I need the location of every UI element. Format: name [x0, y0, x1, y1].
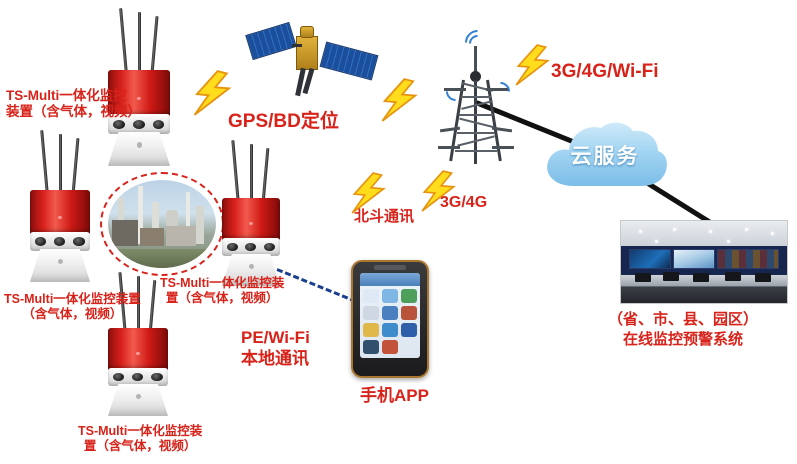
- app-icon[interactable]: [401, 340, 417, 354]
- mobile-3g4g-label: 3G/4G: [440, 194, 487, 213]
- rugged-handheld-icon[interactable]: [351, 260, 429, 378]
- diagram-canvas: 云服务: [0, 0, 797, 464]
- lightning-bolt-icon: [512, 44, 554, 86]
- lightning-bolt-icon: [378, 78, 422, 122]
- handheld-screen[interactable]: [360, 273, 421, 357]
- plant-highlight-circle: [100, 172, 224, 276]
- cell-tower-icon: [432, 24, 518, 166]
- control-room-photo: [620, 220, 788, 304]
- handheld-statusbar: [360, 273, 421, 286]
- cloud-label: 云服务: [540, 116, 670, 194]
- app-icon[interactable]: [363, 323, 379, 337]
- app-icon[interactable]: [363, 306, 379, 320]
- satellite-icon: [248, 14, 376, 96]
- device-2-label: TS-Multi一体化监控装置 （含气体，视频）: [4, 292, 141, 322]
- app-icon[interactable]: [382, 306, 398, 320]
- app-icon[interactable]: [363, 340, 379, 354]
- local-comm-label: PE/Wi-Fi 本地通讯: [241, 327, 310, 370]
- app-icon[interactable]: [401, 323, 417, 337]
- app-icon[interactable]: [382, 323, 398, 337]
- cloud-icon: 云服务: [540, 116, 670, 194]
- app-icon[interactable]: [401, 289, 417, 303]
- control-center-label: （省、市、县、园区） 在线监控预警系统: [608, 310, 758, 349]
- device-4-label: TS-Multi一体化监控装 置（含气体，视频）: [78, 424, 202, 454]
- handheld-app-grid[interactable]: [363, 289, 416, 355]
- app-icon[interactable]: [382, 340, 398, 354]
- handheld-speaker: [374, 265, 407, 270]
- gps-bd-label: GPS/BD定位: [228, 111, 339, 133]
- link-device-to-handheld-dashed: [276, 268, 356, 303]
- app-icon[interactable]: [363, 289, 379, 303]
- device-1-label: TS-Multi一体化监控 装置（含气体，视频）: [6, 88, 141, 120]
- app-icon[interactable]: [382, 289, 398, 303]
- lightning-bolt-icon: [190, 70, 236, 116]
- monitoring-device-icon: [222, 140, 280, 290]
- mobile-network-label: 3G/4G/Wi-Fi: [551, 61, 659, 83]
- device-3-label: TS-Multi一体化监控装 置（含气体，视频）: [160, 276, 284, 306]
- phone-app-label: 手机APP: [360, 386, 429, 406]
- beidou-label: 北斗通讯: [354, 208, 414, 226]
- app-icon[interactable]: [401, 306, 417, 320]
- monitoring-device-icon: [30, 130, 90, 288]
